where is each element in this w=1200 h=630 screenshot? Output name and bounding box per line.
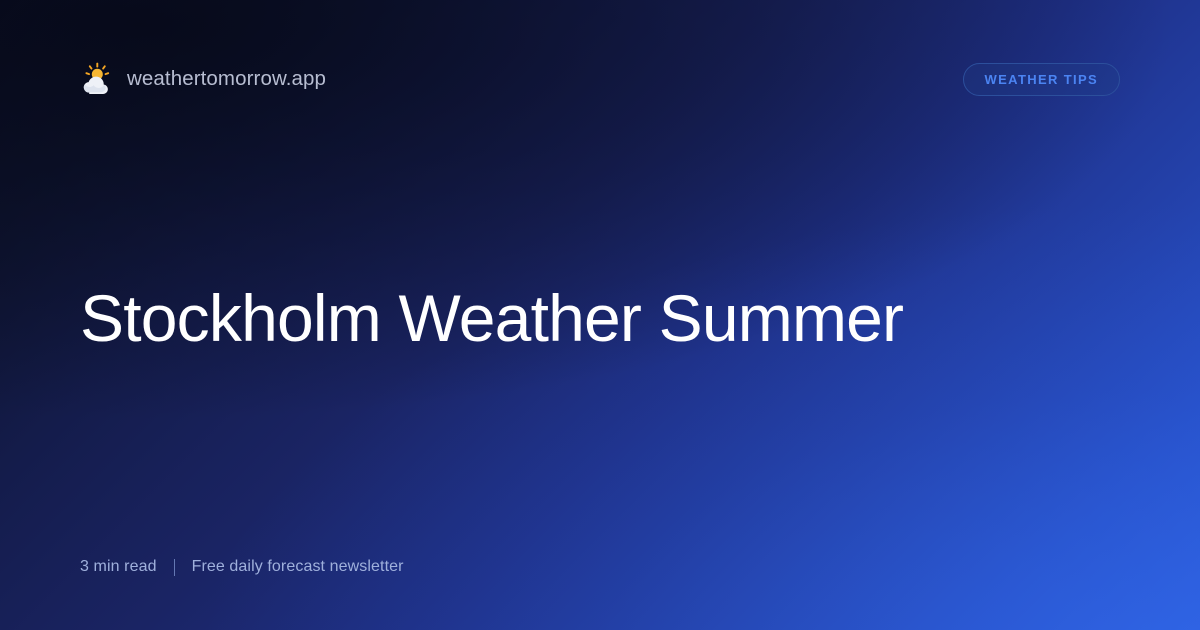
meta-separator — [174, 559, 175, 576]
footer-meta: 3 min read Free daily forecast newslette… — [80, 556, 1120, 578]
title-area: Stockholm Weather Summer — [80, 80, 1120, 556]
newsletter-label: Free daily forecast newsletter — [192, 558, 404, 576]
page-title: Stockholm Weather Summer — [80, 282, 903, 355]
og-image-card: weathertomorrow.app WEATHER TIPS Stockho… — [0, 0, 1200, 630]
read-time-label: 3 min read — [80, 558, 157, 576]
